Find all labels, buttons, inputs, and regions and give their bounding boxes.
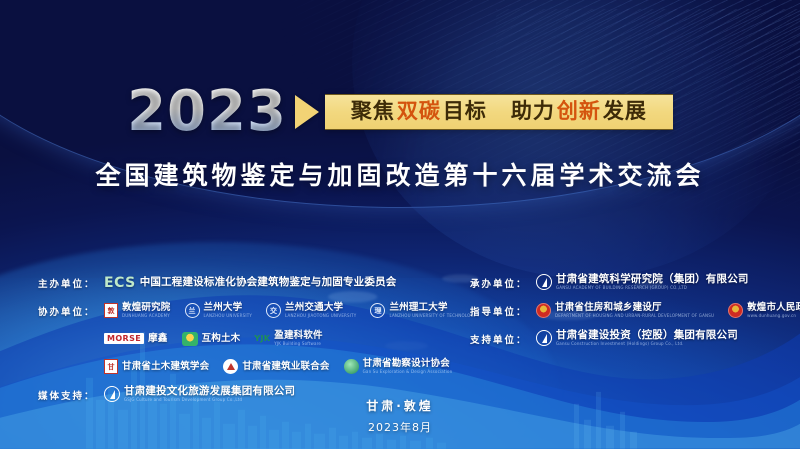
sponsor-org-name-en: Gansu Construction Investment (Holdings)… bbox=[556, 342, 738, 346]
sponsor-org[interactable]: 甘肃省勘察设计协会Gan Su Exploration & Design Ass… bbox=[344, 359, 453, 374]
sponsor-org[interactable]: 甘肃省住房和城乡建设厅DEPARTMENT OF HOUSING AND URB… bbox=[536, 303, 714, 318]
sponsor-row: MORSE摩鑫互构土木YJK盈建科软件YJK Building Software bbox=[38, 328, 458, 349]
sponsor-org[interactable]: YJK盈建科软件YJK Building Software bbox=[254, 331, 322, 346]
slogan-banner: 聚焦 双碳 目标 助力 创新 发展 bbox=[325, 94, 673, 130]
footer-location: 甘肃·敦煌 bbox=[0, 397, 800, 414]
sponsor-org[interactable]: ECS中国工程建设标准化协会建筑物鉴定与加固专业委员会 bbox=[104, 275, 397, 291]
sponsor-org-text: 兰州交通大学LANZHOU JIAOTONG UNIVERSITY bbox=[285, 303, 356, 318]
sponsor-org-name-cn: 盈建科软件 bbox=[274, 331, 323, 341]
sponsor-row: 支持单位：甘肃省建设投资（控股）集团有限公司Gansu Construction… bbox=[470, 328, 790, 349]
sponsor-org[interactable]: 敦敦煌研究院DUNHUANG ACADEMY bbox=[104, 303, 171, 318]
sponsor-org-name-cn: 兰州理工大学 bbox=[389, 303, 476, 313]
slogan-part-2: 目标 bbox=[443, 101, 487, 122]
sponsor-row: 甘甘肃省土木建筑学会甘肃省建筑业联合会甘肃省勘察设计协会Gan Su Explo… bbox=[38, 356, 458, 377]
conference-title: 全国建筑物鉴定与加固改造第十六届学术交流会 bbox=[0, 156, 800, 192]
sponsor-logo-group: 甘肃省建设投资（控股）集团有限公司Gansu Construction Inve… bbox=[536, 330, 738, 346]
sponsor-logo-group: 甘甘肃省土木建筑学会甘肃省建筑业联合会甘肃省勘察设计协会Gan Su Explo… bbox=[104, 359, 452, 374]
ecs-logo-icon: ECS bbox=[104, 275, 136, 291]
sponsor-org-name-cn: 甘肃建投文化旅游发展集团有限公司 bbox=[124, 386, 295, 397]
sponsor-org[interactable]: 甘肃省建筑业联合会 bbox=[223, 359, 329, 374]
sponsor-org-name-en: DUNHUANG ACADEMY bbox=[122, 314, 171, 318]
sponsor-org-name-cn: 敦煌研究院 bbox=[122, 303, 171, 313]
sponsor-org[interactable]: 兰兰州大学LANZHOU UNIVERSITY bbox=[185, 303, 253, 318]
sponsor-org-name-en: www.dunhuang.gov.cn bbox=[747, 314, 800, 318]
sponsor-org-text: 摩鑫 bbox=[148, 334, 167, 344]
morse-logo-icon: MORSE bbox=[104, 333, 144, 344]
sponsor-org-name-cn: 甘肃省土木建筑学会 bbox=[122, 362, 209, 372]
sponsor-org-name-cn: 互构土木 bbox=[202, 334, 241, 344]
sponsor-org-name-cn: 甘肃省住房和城乡建设厅 bbox=[555, 303, 714, 313]
sponsor-org-name-cn: 甘肃省建筑科学研究院（集团）有限公司 bbox=[556, 274, 749, 285]
sponsor-org[interactable]: 甘甘肃省土木建筑学会 bbox=[104, 359, 209, 374]
conference-poster: 2023 聚焦 双碳 目标 助力 创新 发展 全国建筑物鉴定与加固改造第十六届学… bbox=[0, 0, 800, 449]
sponsor-org[interactable]: MORSE摩鑫 bbox=[104, 333, 168, 344]
sponsor-org-text: 敦煌研究院DUNHUANG ACADEMY bbox=[122, 303, 171, 318]
sponsor-org[interactable]: 甘肃省建筑科学研究院（集团）有限公司GANSU ACADEMY OF BUILD… bbox=[536, 274, 749, 290]
sponsor-org-text: 甘肃省勘察设计协会Gan Su Exploration & Design Ass… bbox=[363, 359, 453, 374]
triangle-arrow-icon bbox=[295, 95, 319, 129]
gansu-civil-architecture-society-logo-icon: 甘 bbox=[104, 359, 118, 374]
sponsor-org-text: 甘肃省建筑业联合会 bbox=[242, 362, 329, 372]
sponsor-row-label: 主办单位： bbox=[38, 276, 104, 290]
sponsor-logo-group: 敦敦煌研究院DUNHUANG ACADEMY兰兰州大学LANZHOU UNIVE… bbox=[104, 303, 476, 318]
sponsor-org-name-cn: 兰州交通大学 bbox=[285, 303, 356, 313]
sponsor-org-name-en: LANZHOU JIAOTONG UNIVERSITY bbox=[285, 314, 356, 318]
sponsor-row: 主办单位：ECS中国工程建设标准化协会建筑物鉴定与加固专业委员会 bbox=[38, 272, 458, 293]
sponsor-org-name-cn: 甘肃省建筑业联合会 bbox=[242, 362, 329, 372]
footer-block: 甘肃·敦煌 2023年8月 bbox=[0, 397, 800, 435]
sponsor-org-text: 甘肃省住房和城乡建设厅DEPARTMENT OF HOUSING AND URB… bbox=[555, 303, 714, 318]
sponsor-org[interactable]: 理兰州理工大学LANZHOU UNIVERSITY OF TECHNOLOGY bbox=[370, 303, 476, 318]
sponsor-column-right: 承办单位：甘肃省建筑科学研究院（集团）有限公司GANSU ACADEMY OF … bbox=[470, 272, 790, 356]
slogan-part-3: 助力 bbox=[511, 101, 555, 122]
sponsor-logo-group: 甘肃省住房和城乡建设厅DEPARTMENT OF HOUSING AND URB… bbox=[536, 303, 800, 318]
gansu-housing-construction-department-logo-icon bbox=[536, 303, 551, 318]
sponsor-org[interactable]: 甘肃省建设投资（控股）集团有限公司Gansu Construction Inve… bbox=[536, 330, 738, 346]
sponsor-org-name-en: YJK Building Software bbox=[274, 342, 323, 346]
headline-block: 2023 聚焦 双碳 目标 助力 创新 发展 全国建筑物鉴定与加固改造第十六届学… bbox=[0, 84, 800, 192]
sponsor-column-left: 主办单位：ECS中国工程建设标准化协会建筑物鉴定与加固专业委员会协办单位：敦敦煌… bbox=[38, 272, 458, 412]
headline-row: 2023 聚焦 双碳 目标 助力 创新 发展 bbox=[0, 84, 800, 140]
sponsor-org-text: 甘肃省建设投资（控股）集团有限公司Gansu Construction Inve… bbox=[556, 330, 738, 346]
sponsor-logo-group: ECS中国工程建设标准化协会建筑物鉴定与加固专业委员会 bbox=[104, 275, 397, 291]
sponsor-row-label: 支持单位： bbox=[470, 332, 536, 346]
sponsor-org-name-en: GANSU ACADEMY OF BUILDING RESEARCH (GROU… bbox=[556, 286, 749, 290]
sponsor-logo-group: MORSE摩鑫互构土木YJK盈建科软件YJK Building Software bbox=[104, 331, 323, 346]
dunhuang-academy-logo-icon: 敦 bbox=[104, 303, 118, 318]
lanzhou-university-of-technology-logo-icon: 理 bbox=[370, 303, 385, 318]
gansu-survey-design-association-logo-icon bbox=[344, 359, 359, 374]
sponsor-org-name-en: LANZHOU UNIVERSITY bbox=[204, 314, 253, 318]
sponsor-org-name-en: LANZHOU UNIVERSITY OF TECHNOLOGY bbox=[389, 314, 476, 318]
sponsor-row: 协办单位：敦敦煌研究院DUNHUANG ACADEMY兰兰州大学LANZHOU … bbox=[38, 300, 458, 321]
sponsor-org-name-en: Gan Su Exploration & Design Association bbox=[363, 370, 453, 374]
sponsor-org-text: 甘肃省建筑科学研究院（集团）有限公司GANSU ACADEMY OF BUILD… bbox=[556, 274, 749, 290]
yjk-logo-icon: YJK bbox=[254, 334, 270, 343]
sponsor-row-label: 承办单位： bbox=[470, 276, 536, 290]
sponsor-org-text: 盈建科软件YJK Building Software bbox=[274, 331, 323, 346]
year-2023: 2023 bbox=[127, 84, 295, 140]
sponsor-org-text: 兰州大学LANZHOU UNIVERSITY bbox=[204, 303, 253, 318]
sponsor-logo-group: 甘肃省建筑科学研究院（集团）有限公司GANSU ACADEMY OF BUILD… bbox=[536, 274, 749, 290]
lanzhou-jiaotong-university-logo-icon: 交 bbox=[266, 303, 281, 318]
gansu-academy-building-research-logo-icon bbox=[536, 274, 552, 290]
sponsor-org-name-cn: 甘肃省勘察设计协会 bbox=[363, 359, 453, 369]
sponsor-row: 承办单位：甘肃省建筑科学研究院（集团）有限公司GANSU ACADEMY OF … bbox=[470, 272, 790, 293]
sponsor-row-label: 协办单位： bbox=[38, 304, 104, 318]
sponsor-org[interactable]: 交兰州交通大学LANZHOU JIAOTONG UNIVERSITY bbox=[266, 303, 356, 318]
sponsor-org-text: 互构土木 bbox=[202, 334, 241, 344]
sponsor-org-name-cn: 甘肃省建设投资（控股）集团有限公司 bbox=[556, 330, 738, 341]
sponsor-org-name-cn: 兰州大学 bbox=[204, 303, 253, 313]
sponsor-org-text: 甘肃省土木建筑学会 bbox=[122, 362, 209, 372]
slogan-part-4: 发展 bbox=[603, 101, 647, 122]
dunhuang-municipal-government-logo-icon bbox=[728, 303, 743, 318]
sponsor-org-text: 兰州理工大学LANZHOU UNIVERSITY OF TECHNOLOGY bbox=[389, 303, 476, 318]
sponsor-row: 指导单位：甘肃省住房和城乡建设厅DEPARTMENT OF HOUSING AN… bbox=[470, 300, 790, 321]
lanzhou-university-logo-icon: 兰 bbox=[185, 303, 200, 318]
sponsor-org[interactable]: 敦煌市人民政府www.dunhuang.gov.cn bbox=[728, 303, 800, 318]
sponsor-org[interactable]: 互构土木 bbox=[182, 332, 241, 346]
slogan-highlight-1: 双碳 bbox=[397, 101, 441, 122]
slogan-highlight-2: 创新 bbox=[557, 101, 601, 122]
sponsor-org-name-en: DEPARTMENT OF HOUSING AND URBAN-RURAL DE… bbox=[555, 314, 714, 318]
sponsor-org-name-cn: 中国工程建设标准化协会建筑物鉴定与加固专业委员会 bbox=[140, 277, 397, 288]
gansu-construction-investment-logo-icon bbox=[536, 330, 552, 346]
wh-m-logo-icon bbox=[182, 332, 198, 346]
sponsor-org-text: 中国工程建设标准化协会建筑物鉴定与加固专业委员会 bbox=[140, 277, 397, 288]
slogan-part-1: 聚焦 bbox=[351, 101, 395, 122]
sponsor-org-name-cn: 摩鑫 bbox=[148, 334, 167, 344]
sponsor-row-label: 指导单位： bbox=[470, 304, 536, 318]
sponsor-org-name-cn: 敦煌市人民政府 bbox=[747, 303, 800, 313]
gansu-construction-federation-logo-icon bbox=[223, 359, 238, 374]
footer-date: 2023年8月 bbox=[0, 419, 800, 435]
sponsor-org-text: 敦煌市人民政府www.dunhuang.gov.cn bbox=[747, 303, 800, 318]
